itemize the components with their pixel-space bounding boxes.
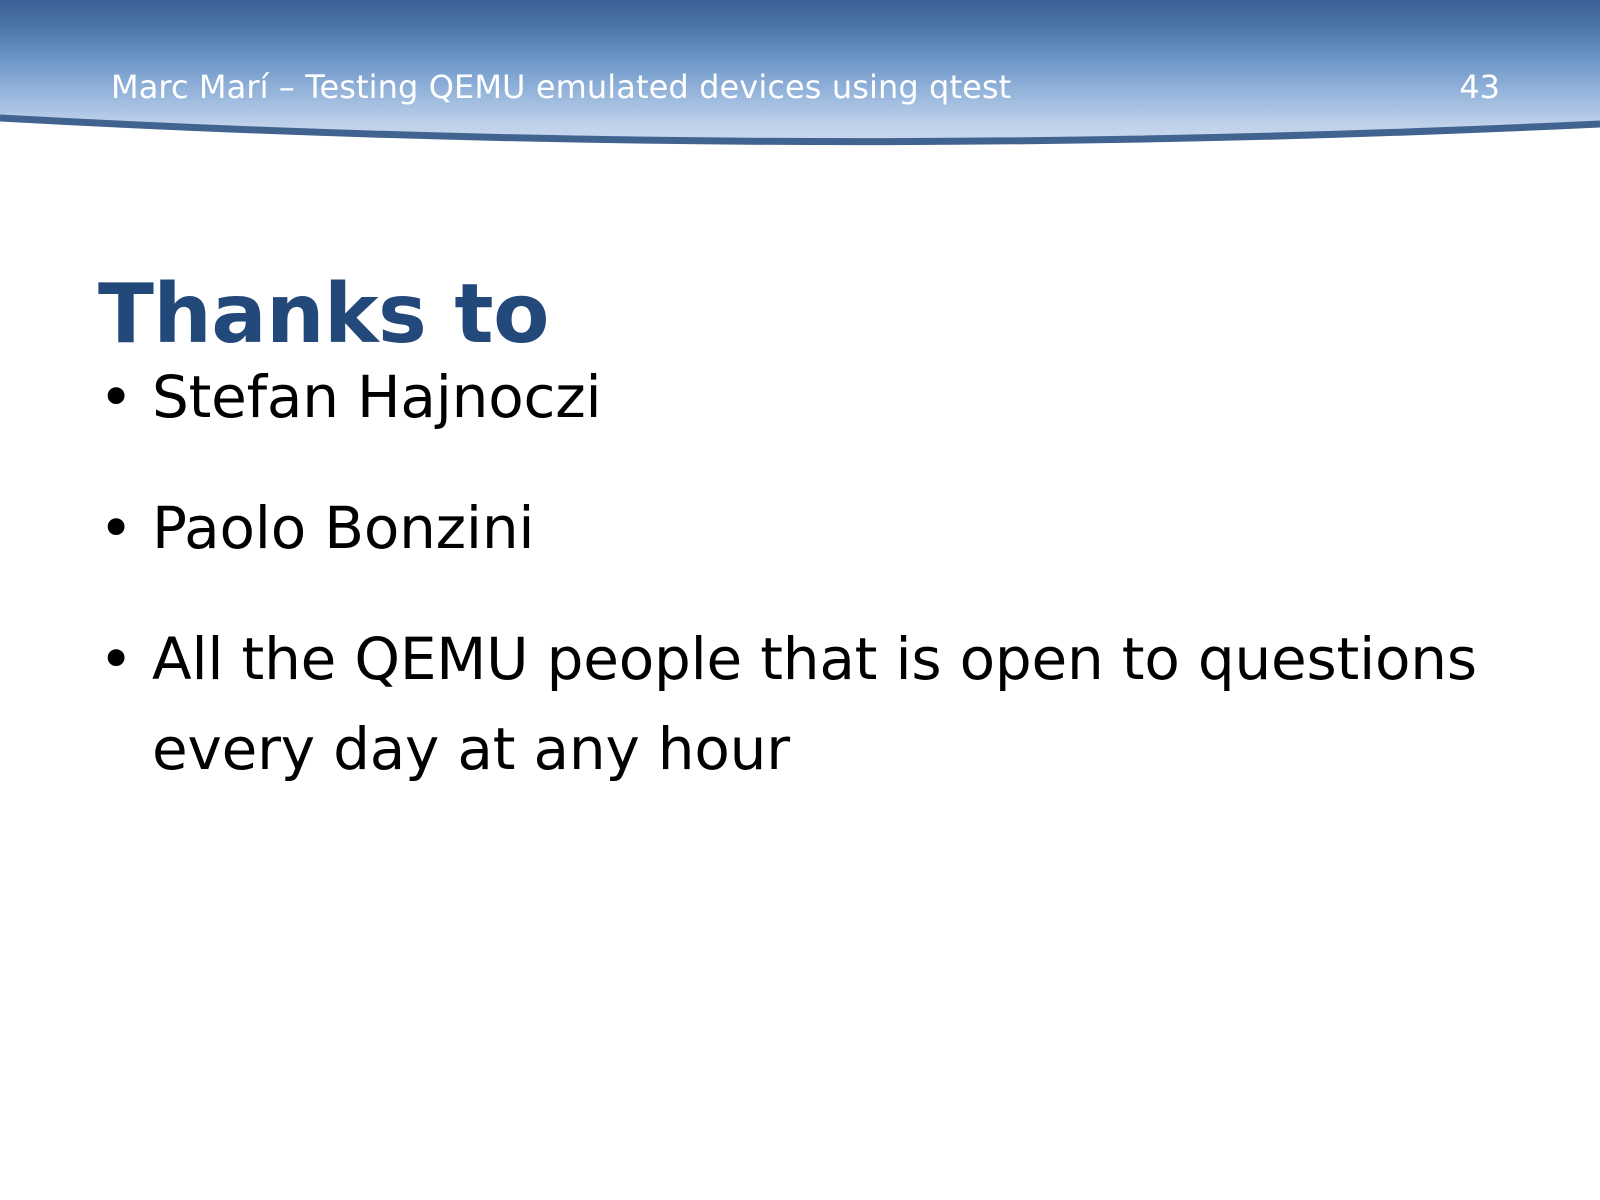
- bullet-point-icon: •: [99, 352, 119, 442]
- slide-canvas: Marc Marí – Testing QEMU emulated device…: [0, 0, 1600, 1200]
- list-item-label: Stefan Hajnoczi: [152, 352, 1508, 442]
- page-number: 43: [1459, 64, 1500, 110]
- list-item: • Stefan Hajnoczi: [88, 352, 1508, 442]
- list-item-label: All the QEMU people that is open to ques…: [152, 614, 1508, 794]
- bullet-point-icon: •: [99, 483, 119, 573]
- bullet-list: • Stefan Hajnoczi • Paolo Bonzini • All …: [88, 352, 1508, 794]
- slide-header: Marc Marí – Testing QEMU emulated device…: [0, 64, 1600, 110]
- bullet-point-icon: •: [99, 614, 119, 704]
- slide-title: Thanks to: [98, 267, 1518, 363]
- list-item-label: Paolo Bonzini: [152, 483, 1508, 573]
- header-title-text: Marc Marí – Testing QEMU emulated device…: [111, 64, 1011, 110]
- list-item: • All the QEMU people that is open to qu…: [88, 614, 1508, 794]
- list-item: • Paolo Bonzini: [88, 483, 1508, 573]
